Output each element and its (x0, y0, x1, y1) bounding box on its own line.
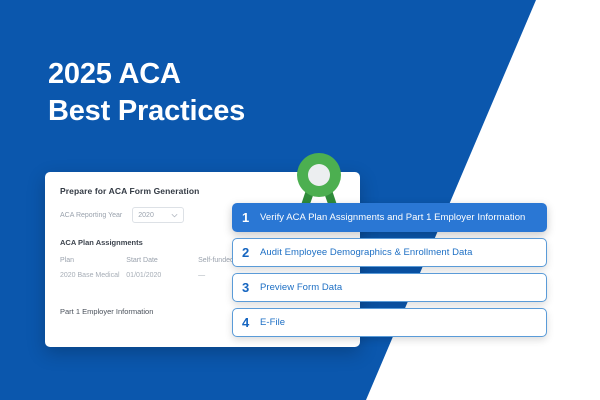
step-label: Verify ACA Plan Assignments and Part 1 E… (260, 212, 525, 223)
step-item-4[interactable]: 4 E-File (232, 308, 547, 337)
step-label: Audit Employee Demographics & Enrollment… (260, 247, 472, 258)
reporting-year-select[interactable]: 2020 (132, 207, 184, 223)
plan-assignments-label: ACA Plan Assignments (60, 238, 143, 247)
page-title: 2025 ACA Best Practices (48, 56, 245, 130)
app-card-title: Prepare for ACA Form Generation (60, 186, 199, 196)
reporting-year-label: ACA Reporting Year (60, 212, 122, 219)
step-number: 1 (242, 210, 260, 225)
step-item-1[interactable]: 1 Verify ACA Plan Assignments and Part 1… (232, 203, 547, 232)
promo-graphic: 2025 ACA Best Practices Prepare for ACA … (0, 0, 600, 400)
reporting-year-value: 2020 (138, 212, 154, 219)
step-label: E-File (260, 317, 285, 328)
step-label: Preview Form Data (260, 282, 342, 293)
column-header-start-date: Start Date (126, 254, 198, 270)
steps-list: 1 Verify ACA Plan Assignments and Part 1… (232, 203, 547, 343)
step-item-2[interactable]: 2 Audit Employee Demographics & Enrollme… (232, 238, 547, 267)
cell-start-date: 01/01/2020 (126, 270, 198, 281)
cell-plan: 2020 Base Medical (60, 270, 126, 281)
step-number: 3 (242, 280, 260, 295)
step-item-3[interactable]: 3 Preview Form Data (232, 273, 547, 302)
part1-employer-information-label: Part 1 Employer Information (60, 307, 153, 316)
column-header-plan: Plan (60, 254, 126, 270)
step-number: 4 (242, 315, 260, 330)
reporting-year-row: ACA Reporting Year 2020 (60, 207, 184, 223)
step-number: 2 (242, 245, 260, 260)
chevron-down-icon (171, 212, 178, 219)
